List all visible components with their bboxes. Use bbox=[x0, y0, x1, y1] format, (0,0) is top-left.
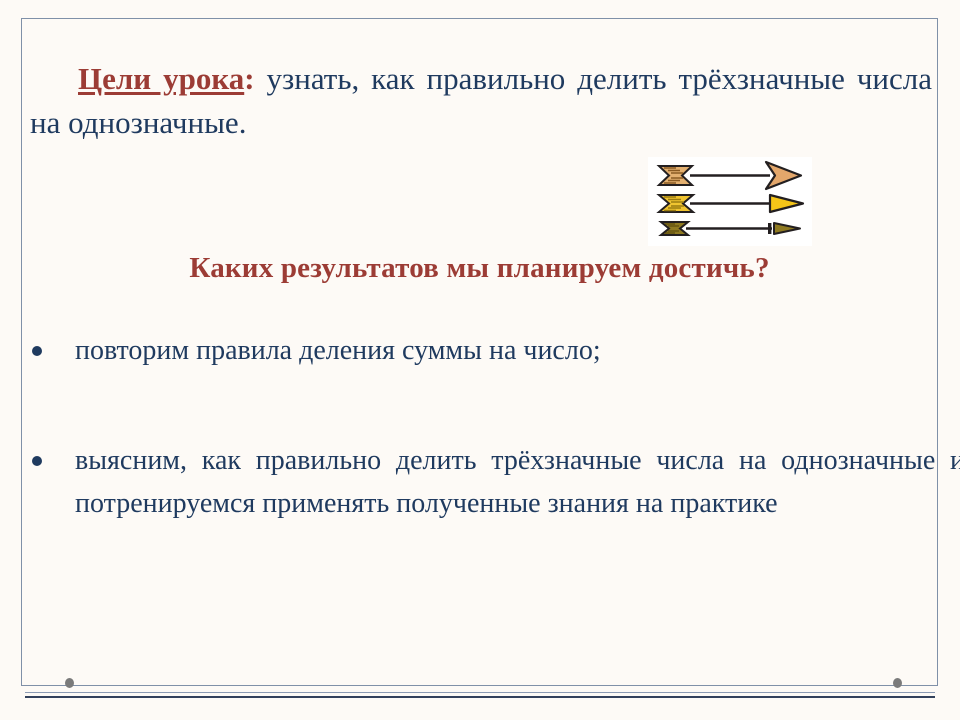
arrow-middle-icon bbox=[659, 195, 803, 212]
bullet-marker-icon bbox=[32, 456, 42, 466]
expected-results-heading: Каких результатов мы планируем достичь? bbox=[21, 252, 938, 285]
list-item: выясним, как правильно делить трёхзначны… bbox=[32, 440, 932, 525]
arrow-bottom-icon bbox=[661, 222, 800, 235]
slide-canvas: Цели урока: узнать, как правильно делить… bbox=[0, 0, 960, 720]
footer-rule-bottom bbox=[25, 696, 935, 698]
lesson-goals-paragraph: Цели урока: узнать, как правильно делить… bbox=[30, 57, 932, 145]
footer-dot-left bbox=[65, 678, 74, 688]
list-item-label: выясним, как правильно делить трёхзначны… bbox=[75, 440, 960, 525]
bullet-marker-icon bbox=[32, 346, 42, 356]
footer-dot-right bbox=[893, 678, 902, 688]
list-item: повторим правила деления суммы на число; bbox=[32, 330, 932, 373]
footer-rule-top bbox=[25, 692, 935, 693]
three-arrows-illustration bbox=[648, 157, 812, 246]
lesson-goals-colon: : bbox=[244, 61, 254, 96]
list-item-label: повторим правила деления суммы на число; bbox=[75, 330, 918, 373]
lesson-goals-label: Цели урока bbox=[78, 61, 244, 96]
arrow-top-icon bbox=[659, 162, 801, 189]
